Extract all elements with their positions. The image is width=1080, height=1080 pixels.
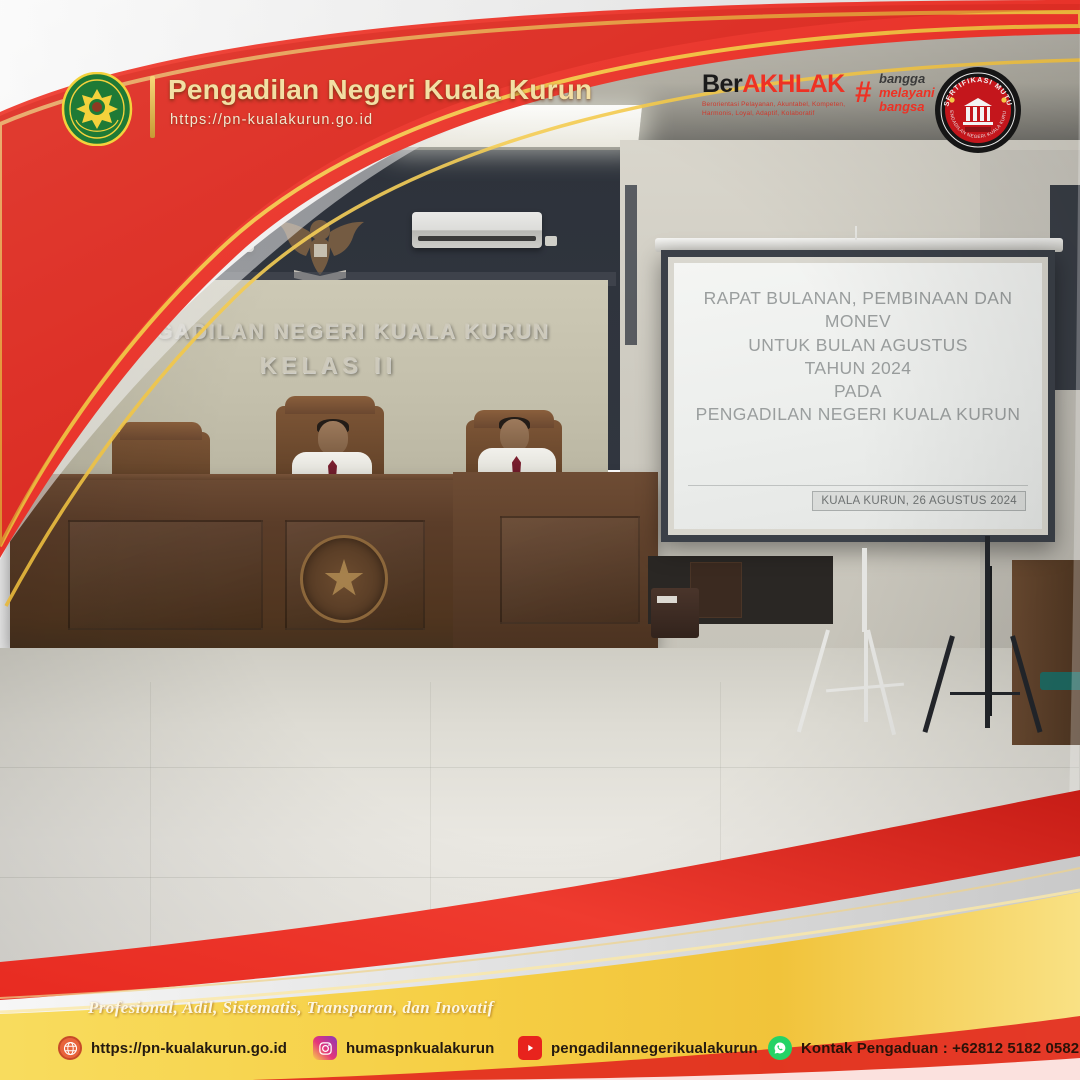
- wall-pillar-left: [625, 185, 637, 345]
- youtube-icon: [518, 1036, 542, 1060]
- speaker-box: [651, 588, 699, 638]
- slide-line-2: MONEV: [674, 310, 1042, 333]
- instagram-icon: [313, 1036, 337, 1060]
- slide-line-1: RAPAT BULANAN, PEMBINAAN DAN: [674, 287, 1042, 310]
- event-photograph: PENGADILAN NEGERI KUALA KURUN KELAS II: [0, 0, 1080, 1080]
- institution-name: Pengadilan Negeri Kuala Kurun: [168, 74, 592, 106]
- wall-socket-icon: [545, 236, 557, 246]
- contact-bar: https://pn-kualakurun.go.id humaspnkuala…: [58, 1036, 1058, 1070]
- berakhlak-tagline-1: Berorientasi Pelayanan, Akuntabel, Kompe…: [702, 100, 845, 109]
- contact-whatsapp[interactable]: Kontak Pengaduan : +62812 5182 0582: [768, 1036, 1079, 1060]
- contact-youtube-label: pengadilannegerikualakurun: [551, 1040, 758, 1057]
- slide-date-label: KUALA KURUN, 26 AGUSTUS 2024: [812, 491, 1026, 511]
- institution-website: https://pn-kualakurun.go.id: [170, 112, 373, 128]
- certification-badge: SERTIFIKASI MUTU PENGADILAN NEGERI KUALA…: [934, 66, 1022, 154]
- contact-website-label: https://pn-kualakurun.go.id: [91, 1040, 287, 1057]
- slide-line-6: PENGADILAN NEGERI KUALA KURUN: [674, 403, 1042, 426]
- institution-motto: Profesional, Adil, Sistematis, Transpara…: [88, 998, 494, 1018]
- globe-icon: [58, 1036, 82, 1060]
- berakhlak-suffix: AKHLAK: [742, 70, 845, 98]
- slide-line-5: PADA: [674, 380, 1042, 403]
- contact-youtube[interactable]: pengadilannegerikualakurun: [518, 1036, 758, 1060]
- bangga-line-3: bangsa: [879, 100, 925, 114]
- slide-text-block: RAPAT BULANAN, PEMBINAAN DAN MONEV UNTUK…: [674, 287, 1042, 427]
- projected-slide: RAPAT BULANAN, PEMBINAAN DAN MONEV UNTUK…: [674, 263, 1042, 529]
- header-divider: [150, 76, 155, 138]
- contact-website[interactable]: https://pn-kualakurun.go.id: [58, 1036, 287, 1060]
- berakhlak-wordmark: BerAKHLAK: [702, 72, 845, 97]
- slide-line-3: UNTUK BULAN AGUSTUS: [674, 334, 1042, 357]
- bangga-line-2: melayani: [879, 86, 935, 100]
- projector-cable: [866, 866, 916, 892]
- bench-panel: [68, 520, 263, 630]
- wood-column: [1012, 560, 1080, 745]
- green-desk: [1040, 672, 1080, 690]
- header-branding: Pengadilan Negeri Kuala Kurun https://pn…: [60, 68, 620, 148]
- whatsapp-icon: [768, 1036, 792, 1060]
- berakhlak-logo: BerAKHLAK Berorientasi Pelayanan, Akunta…: [702, 72, 845, 119]
- wall-sign-line2: KELAS II: [48, 352, 608, 379]
- berakhlak-tagline-2: Harmonis, Loyal, Adaptif, Kolaboratif: [702, 109, 845, 118]
- court-seal-icon: [60, 72, 134, 146]
- projector-screen: RAPAT BULANAN, PEMBINAAN DAN MONEV UNTUK…: [661, 250, 1055, 542]
- slide-line-4: TAHUN 2024: [674, 357, 1042, 380]
- berakhlak-prefix: Ber: [702, 70, 742, 98]
- court-emblem-icon: [300, 535, 388, 623]
- hashtag-icon: #: [855, 76, 872, 110]
- wall-sign-line1: PENGADILAN NEGERI KUALA KURUN: [48, 320, 608, 344]
- air-conditioner-unit: [146, 216, 254, 252]
- courtroom-wall-sign: PENGADILAN NEGERI KUALA KURUN KELAS II: [48, 320, 608, 379]
- contact-instagram-label: humaspnkualakurun: [346, 1040, 494, 1057]
- contact-instagram[interactable]: humaspnkualakurun: [313, 1036, 494, 1060]
- wall-socket-icon: [252, 228, 264, 238]
- screen-hook: [855, 226, 857, 240]
- contact-whatsapp-label: Kontak Pengaduan : +62812 5182 0582: [801, 1040, 1079, 1057]
- slide-divider: [688, 485, 1028, 486]
- projector-device: [900, 828, 1026, 886]
- bangga-line-1: bangga: [879, 72, 925, 86]
- bench-panel: [500, 516, 640, 624]
- air-conditioner-unit: [412, 212, 542, 248]
- poster-canvas: PENGADILAN NEGERI KUALA KURUN KELAS II: [0, 0, 1080, 1080]
